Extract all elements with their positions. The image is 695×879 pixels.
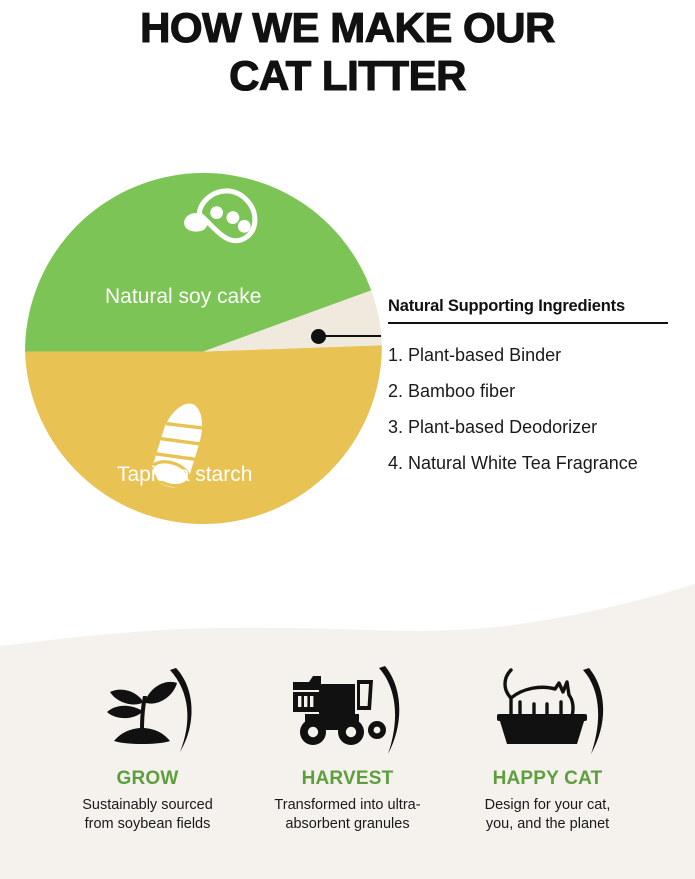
supporting-ingredients-panel: Natural Supporting Ingredients 1. Plant-… [388, 297, 688, 481]
step-card-grow: GROW Sustainably sourced from soybean fi… [48, 660, 248, 834]
step-body: Design for your cat, you, and the planet [473, 796, 623, 834]
ingredients-heading: Natural Supporting Ingredients [388, 297, 688, 316]
step-body: Transformed into ultra-absorbent granule… [273, 796, 423, 834]
title-line-2: CAT LITTER [0, 52, 695, 100]
step-title: GROW [116, 768, 178, 790]
ingredient-pie-chart [25, 173, 382, 530]
list-item: 3. Plant-based Deodorizer [388, 409, 688, 445]
combine-harvester-icon [288, 660, 408, 760]
callout-line [325, 335, 381, 337]
callout-dot [311, 329, 326, 344]
list-item: 2. Bamboo fiber [388, 373, 688, 409]
step-body: Sustainably sourced from soybean fields [73, 796, 223, 834]
page-title: HOW WE MAKE OUR CAT LITTER [0, 0, 695, 100]
ingredients-divider [388, 322, 668, 324]
list-item: 4. Natural White Tea Fragrance [388, 445, 688, 481]
list-item: 1. Plant-based Binder [388, 337, 688, 373]
cat-litter-box-icon [488, 660, 608, 760]
ingredients-list: 1. Plant-based Binder 2. Bamboo fiber 3.… [388, 337, 688, 481]
step-title: HAPPY CAT [493, 768, 603, 790]
step-title: HARVEST [302, 768, 394, 790]
step-card-harvest: HARVEST Transformed into ultra-absorbent… [248, 660, 448, 834]
pie-slice-tapioca [25, 345, 382, 524]
infographic-root: HOW WE MAKE OUR CAT LITTER [0, 0, 695, 879]
process-steps: GROW Sustainably sourced from soybean fi… [0, 660, 695, 834]
sprout-icon [88, 660, 208, 760]
title-line-1: HOW WE MAKE OUR [0, 4, 695, 52]
step-card-happy-cat: HAPPY CAT Design for your cat, you, and … [448, 660, 648, 834]
